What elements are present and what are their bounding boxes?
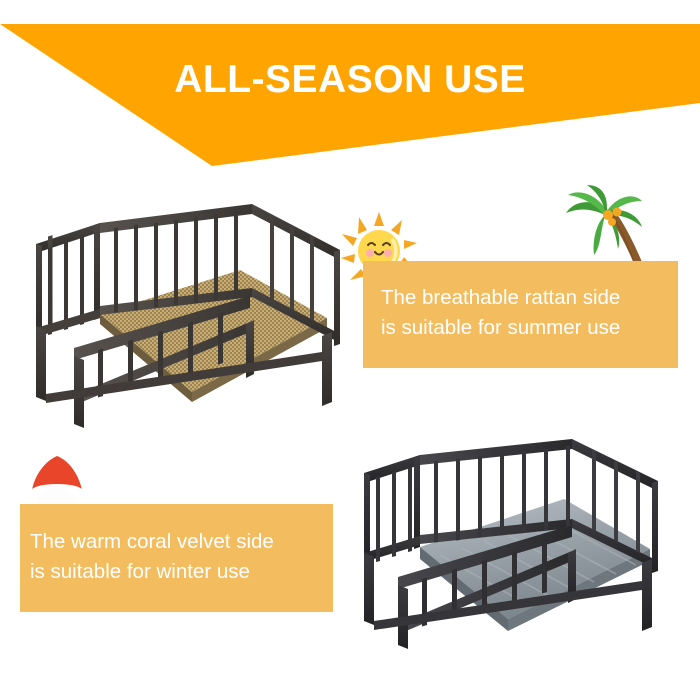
winter-caption-text: The warm coral velvet side is suitable f… [30,527,330,587]
header-banner: ALL-SEASON USE [0,0,700,180]
sun-cheek-left [366,249,374,257]
bed2-rail-back [420,439,572,544]
infographic-canvas: ALL-SEASON USE [0,0,700,700]
summer-caption-text: The breathable rattan side is suitable f… [381,283,681,343]
product-image-velvet-bed [358,437,688,649]
page-title: ALL-SEASON USE [0,57,700,103]
sun-cheek-right [384,249,392,257]
product-image-rattan-bed [22,196,352,428]
